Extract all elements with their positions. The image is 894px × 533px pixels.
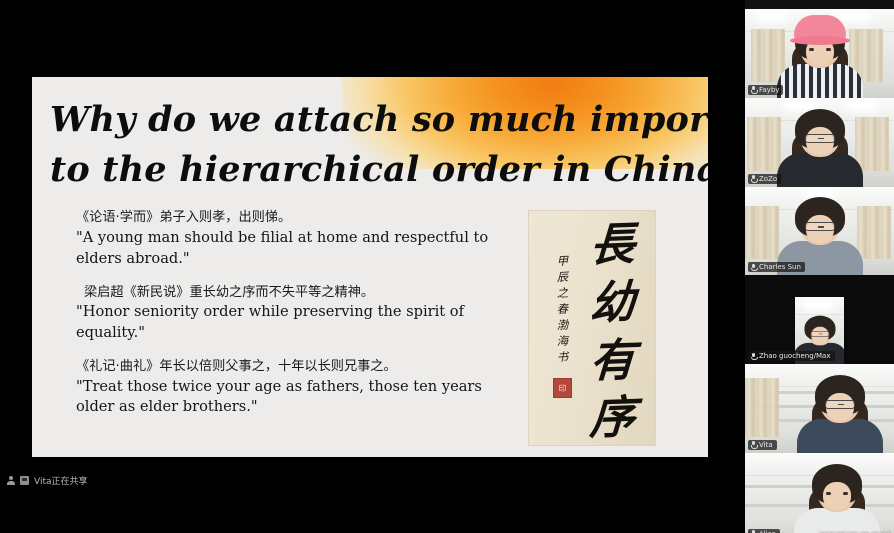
quote-chinese: 《论语·学而》弟子入则孝，出则悌。 [76, 208, 506, 228]
calligraphy-seal: 印 [553, 378, 572, 398]
quote-item: 《礼记·曲礼》年长以倍则父事之，十年以长则兄事之。 "Treat those t… [76, 357, 506, 418]
screen-share-icon [20, 476, 29, 485]
quote-list: 《论语·学而》弟子入则孝，出则悌。 "A young man should be… [76, 208, 506, 418]
participant-video-image [777, 113, 863, 187]
glasses [805, 222, 835, 231]
participant-video-strip[interactable]: Fayby ZoZo [745, 0, 894, 533]
mic-icon [751, 353, 756, 360]
signature-char: 海 [554, 333, 572, 350]
participant-name-badge: Alice [748, 529, 780, 533]
signature-char: 春 [554, 302, 572, 319]
calligraphy-char: 長 [578, 215, 645, 275]
mic-icon [751, 441, 756, 448]
quote-chinese: 《礼记·曲礼》年长以倍则父事之，十年以长则兄事之。 [76, 357, 506, 377]
video-tile[interactable]: Zhao guocheng/Max [745, 275, 894, 364]
participant-name-badge: Charles Sun [748, 262, 805, 272]
quote-item: 《论语·学而》弟子入则孝，出则悌。 "A young man should be… [76, 208, 506, 269]
slide-title-line-1: Why do we attach so much importance [50, 95, 690, 145]
signature-char: 书 [554, 349, 572, 366]
calligraphy-char: 序 [578, 388, 645, 446]
presentation-slide[interactable]: Why do we attach so much importance to t… [32, 77, 708, 457]
share-status-text: Vita正在共享 [34, 474, 88, 487]
participant-name: Zhao guocheng/Max [759, 352, 831, 360]
calligraphy-char: 幼 [578, 273, 645, 333]
participant-video-image [794, 468, 880, 533]
participant-name: ZoZo [759, 175, 777, 183]
mic-icon [751, 86, 756, 93]
quote-chinese: 梁启超《新民说》重长幼之序而不失平等之精神。 [76, 283, 506, 303]
participant-name: Charles Sun [759, 263, 801, 271]
calligraphy-main-text: 長 幼 有 序 [580, 216, 644, 446]
person-icon [6, 476, 15, 485]
quote-english: "A young man should be filial at home an… [76, 228, 506, 269]
glasses [810, 332, 829, 338]
video-tile[interactable]: Fayby [745, 9, 894, 98]
calligraphy-char: 有 [578, 330, 645, 390]
participant-name-badge: ZoZo [748, 174, 781, 184]
mic-icon [751, 175, 756, 182]
screen-share-status-bar: Vita正在共享 [0, 471, 94, 489]
signature-char: 辰 [554, 270, 572, 287]
signature-char: 之 [554, 286, 572, 303]
participant-name-badge: Fayby [748, 85, 783, 95]
participant-name-badge: Zhao guocheng/Max [748, 351, 835, 361]
participant-video-image [797, 379, 883, 453]
calligraphy-signature: 甲 辰 之 春 渤 海 书 [554, 254, 571, 365]
meeting-screen: Why do we attach so much importance to t… [0, 0, 894, 533]
signature-char: 甲 [554, 254, 572, 271]
slide-title: Why do we attach so much importance to t… [32, 77, 708, 194]
video-tile[interactable]: Alice 2025/05/30 08:05:52 [745, 453, 894, 533]
video-tile[interactable]: Vita [745, 364, 894, 453]
shared-screen-region[interactable]: Why do we attach so much importance to t… [0, 0, 740, 533]
pink-cap [794, 15, 846, 41]
participant-name: Fayby [759, 86, 779, 94]
quote-item: 梁启超《新民说》重长幼之序而不失平等之精神。 "Honor seniority … [76, 283, 506, 344]
signature-char: 渤 [554, 317, 572, 334]
glasses [805, 134, 835, 143]
quote-english: "Treat those twice your age as fathers, … [76, 377, 506, 418]
video-tile[interactable]: ZoZo [745, 98, 894, 187]
calligraphy-image: 長 幼 有 序 甲 辰 之 春 渤 海 书 印 [528, 210, 656, 446]
glasses [825, 400, 855, 409]
mic-icon [751, 264, 756, 271]
quote-english: "Honor seniority order while preserving … [76, 302, 506, 343]
slide-title-line-2: to the hierarchical order in China? [50, 145, 690, 195]
participant-name-badge: Vita [748, 440, 777, 450]
participant-video-image [777, 24, 863, 98]
participant-name: Vita [759, 441, 773, 449]
video-tile[interactable]: Charles Sun [745, 187, 894, 276]
slide-body: 《论语·学而》弟子入则孝，出则悌。 "A young man should be… [32, 194, 708, 446]
